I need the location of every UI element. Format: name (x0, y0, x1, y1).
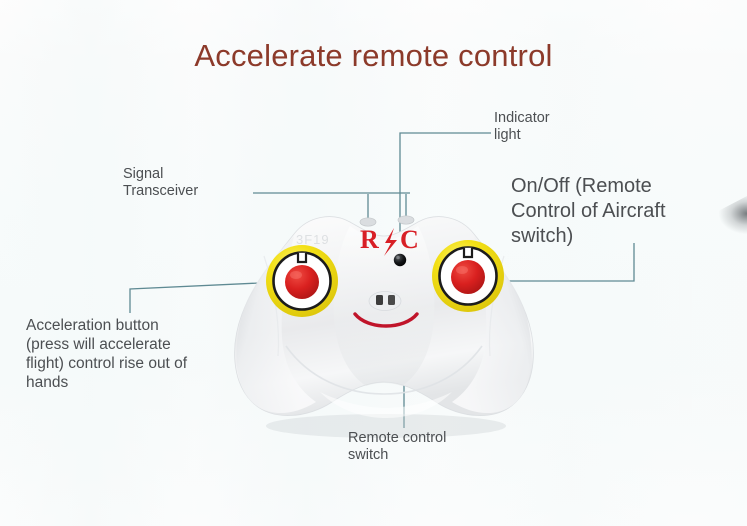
right-joystick-notch (464, 248, 472, 257)
controller-graphic: 3F19 R C (224, 196, 544, 438)
rc-remote-controller[interactable]: 3F19 R C (224, 196, 544, 438)
indicator-led (394, 254, 406, 266)
power-switch-recess (369, 292, 401, 311)
embossed-mark: 3F19 (296, 232, 330, 247)
antenna-nub-right[interactable] (398, 216, 414, 224)
power-switch-toggle-right[interactable] (388, 295, 395, 305)
left-joystick-button[interactable] (285, 265, 319, 299)
left-joystick-notch (298, 253, 306, 262)
callout-indicator-light: Indicator light (494, 110, 550, 144)
callout-on-off-switch: On/Off (Remote Control of Aircraft switc… (511, 174, 666, 248)
power-switch-toggle-left[interactable] (376, 295, 383, 305)
right-edge-shadow (695, 196, 747, 240)
page-title: Accelerate remote control (0, 38, 747, 74)
callout-signal-transceiver: Signal Transceiver (123, 166, 198, 200)
indicator-led-highlight (396, 256, 400, 260)
right-joystick-button[interactable] (451, 260, 485, 294)
callout-remote-control-switch: Remote control switch (348, 430, 446, 464)
svg-text:C: C (400, 225, 420, 254)
product-diagram-page: Accelerate remote control (0, 0, 747, 526)
left-joystick[interactable] (266, 245, 338, 317)
left-joystick-highlight (290, 271, 302, 279)
power-switch[interactable] (369, 292, 401, 311)
callout-acceleration-button: Acceleration button (press will accelera… (26, 317, 187, 393)
right-joystick[interactable] (432, 240, 504, 312)
right-joystick-highlight (456, 266, 468, 274)
svg-text:R: R (360, 225, 380, 254)
